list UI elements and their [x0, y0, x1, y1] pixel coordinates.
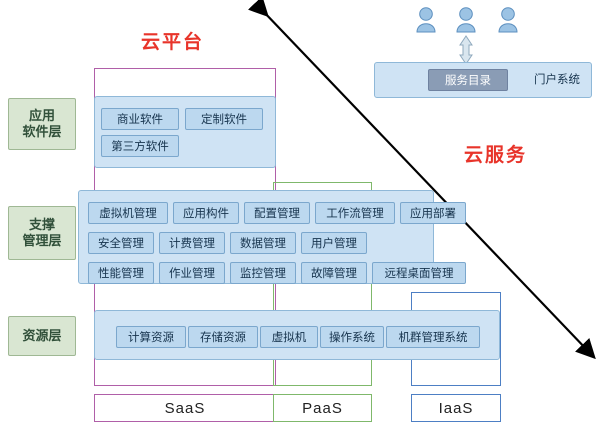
support-cell-vm-management[interactable]: 虚拟机管理: [88, 202, 168, 224]
layer-label-support: 支撑 管理层: [8, 206, 76, 260]
layer-label-application-line1: 应用: [29, 108, 55, 124]
paas-tag: PaaS: [273, 394, 372, 422]
app-cell-commercial-software[interactable]: 商业软件: [101, 108, 179, 130]
iaas-tag: IaaS: [411, 394, 501, 422]
user-icon: [417, 8, 435, 32]
diagram-canvas: 服务目录 门户系统 云平台 云服务 应用 软件层 支撑 管理层 资源层 商业软件…: [0, 0, 600, 447]
support-cell-job-management[interactable]: 作业管理: [159, 262, 225, 284]
support-cell-billing-management[interactable]: 计费管理: [159, 232, 225, 254]
layer-label-application-line2: 软件层: [22, 124, 61, 140]
support-cell-app-components[interactable]: 应用构件: [173, 202, 239, 224]
support-cell-monitor-management[interactable]: 监控管理: [230, 262, 296, 284]
layer-label-support-line2: 管理层: [22, 233, 61, 249]
resource-cell-operating-system[interactable]: 操作系统: [320, 326, 384, 348]
support-cell-security-management[interactable]: 安全管理: [88, 232, 154, 254]
support-cell-data-management[interactable]: 数据管理: [230, 232, 296, 254]
support-cell-config-management[interactable]: 配置管理: [244, 202, 310, 224]
support-cell-performance-management[interactable]: 性能管理: [88, 262, 154, 284]
support-cell-remote-desktop-management[interactable]: 远程桌面管理: [372, 262, 466, 284]
application-layer-group: [94, 96, 276, 168]
saas-tag: SaaS: [94, 394, 276, 422]
layer-label-support-line1: 支撑: [29, 217, 55, 233]
app-cell-custom-software[interactable]: 定制软件: [185, 108, 263, 130]
portal-system-label: 门户系统: [524, 69, 590, 89]
user-icon: [499, 8, 517, 32]
layer-label-resource: 资源层: [8, 316, 76, 356]
resource-cell-compute[interactable]: 计算资源: [116, 326, 186, 348]
resource-cell-storage[interactable]: 存储资源: [188, 326, 258, 348]
resource-cell-virtual-machine[interactable]: 虚拟机: [260, 326, 318, 348]
user-icon: [457, 8, 475, 32]
layer-label-application: 应用 软件层: [8, 98, 76, 150]
resource-cell-cluster-management-system[interactable]: 机群管理系统: [386, 326, 480, 348]
support-cell-user-management[interactable]: 用户管理: [301, 232, 367, 254]
cloud-platform-title: 云平台: [141, 27, 204, 54]
service-catalog-button[interactable]: 服务目录: [428, 69, 508, 91]
app-cell-thirdparty-software[interactable]: 第三方软件: [101, 135, 179, 157]
support-cell-app-deployment[interactable]: 应用部署: [400, 202, 466, 224]
cloud-service-title: 云服务: [464, 140, 527, 167]
bidirectional-arrow-icon: [460, 36, 472, 64]
support-cell-workflow-management[interactable]: 工作流管理: [315, 202, 395, 224]
support-cell-fault-management[interactable]: 故障管理: [301, 262, 367, 284]
